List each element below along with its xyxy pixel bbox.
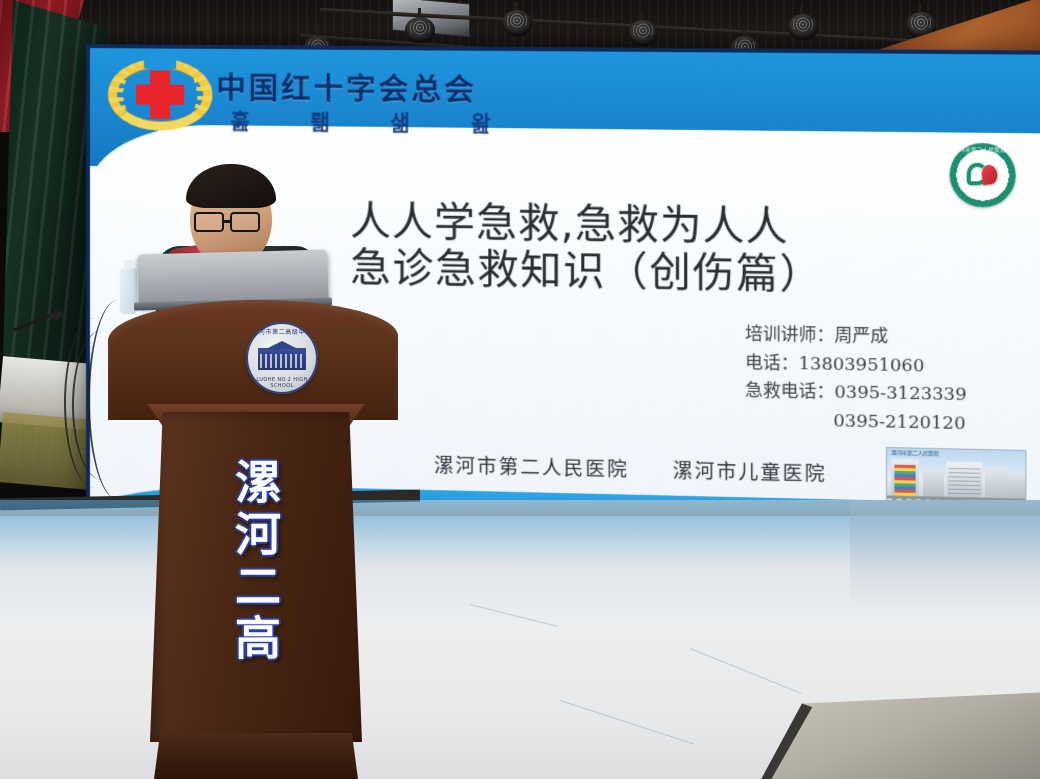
- wreath-gap: [144, 52, 176, 68]
- podium: 漯河市第二高级中学 LUOHE NO.2 HIGH SCHOOL 漯河二高: [108, 300, 398, 779]
- red-cross-emblem-icon: [108, 58, 212, 131]
- crest-top-text: 漯河市第二高级中学: [246, 327, 318, 336]
- heart-red-shape: [980, 164, 999, 185]
- cross-horizontal: [136, 84, 184, 104]
- presenter-hair: [186, 164, 276, 208]
- crest-bottom-text: LUOHE NO.2 HIGH SCHOOL: [246, 377, 318, 389]
- glasses-icon: [230, 212, 260, 232]
- stage-light-icon: [788, 14, 818, 40]
- podium-school-name: 漯河二高: [226, 458, 283, 666]
- emergency-phone-row-2: 0395-2120120: [745, 406, 967, 439]
- heart-icon: [967, 162, 999, 191]
- hospital-logo-ring-text: 漯河市第二人民医院 • 儿童医院: [950, 146, 1016, 161]
- stage-light-icon: [405, 17, 435, 43]
- stage-light-icon: [502, 10, 532, 36]
- organization-name-chinese: 中国红十字会总会: [216, 65, 477, 110]
- glasses-bridge: [224, 220, 232, 223]
- hospital-heart-logo-icon: 漯河市第二人民医院 • 儿童医院: [950, 143, 1016, 208]
- floor-scuff: [560, 700, 693, 744]
- hospital-name-1: 漯河市第二人民医院: [434, 455, 629, 482]
- organization-name-mongolian: 훒 뢞 샒 왎: [231, 105, 518, 138]
- slide-title: 人人学急救,急救为人人 急诊急救知识（创伤篇）: [350, 199, 996, 301]
- school-crest-icon: 漯河市第二高级中学 LUOHE NO.2 HIGH SCHOOL: [246, 322, 318, 394]
- glasses-icon: [194, 212, 224, 232]
- instructor-phone-row: 电话：13803951060: [745, 349, 967, 381]
- instructor-info-block: 培训讲师：周严成 电话：13803951060 急救电话：0395-312333…: [745, 321, 967, 438]
- stage-light-icon: [628, 20, 658, 46]
- hospital-name-2: 漯河市儿童医院: [673, 460, 827, 486]
- podium-base: [154, 733, 358, 779]
- auditorium-scene: 中国红十字会总会 훒 뢞 샒 왎 漯河市第二人民医院 • 儿童医院 人人学急救,…: [0, 0, 1040, 779]
- instructor-name-row: 培训讲师：周严成: [745, 321, 967, 353]
- floor-scuff: [470, 604, 558, 627]
- floor-reflection-right: [850, 500, 1040, 610]
- stage-step: [700, 687, 1040, 779]
- floor-scuff: [690, 648, 802, 694]
- slide-title-line1: 人人学急救,急救为人人: [350, 198, 788, 251]
- photo-caption: 漯河市第二人民医院: [891, 449, 939, 457]
- emergency-phone-row: 急救电话：0395-3123339: [745, 377, 967, 410]
- crest-building-icon: [258, 348, 306, 370]
